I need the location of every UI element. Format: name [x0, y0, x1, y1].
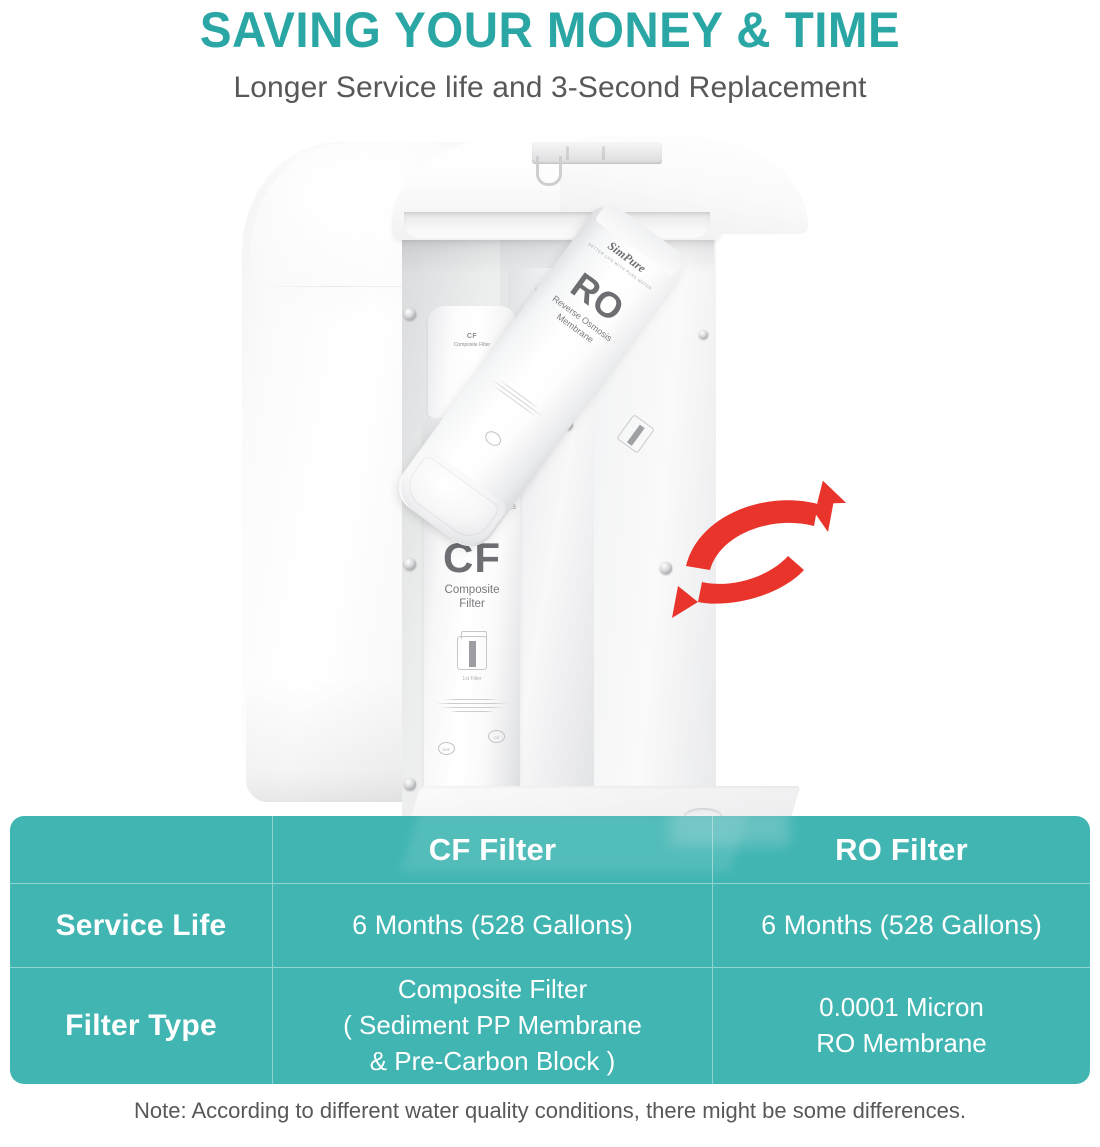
header-block: SAVING YOUR MONEY & TIME Longer Service …: [0, 0, 1100, 105]
page-subtitle: Longer Service life and 3-Second Replace…: [0, 71, 1100, 105]
filter-comparison-table: CF Filter RO Filter Service Life 6 Month…: [10, 816, 1090, 1084]
product-photo: CF Composite Filter 1st Filter NSF CE Si…: [0, 118, 1100, 818]
table-cell-ro-service-life: 6 Months (528 Gallons): [713, 884, 1090, 968]
water-waves-icon: [432, 696, 512, 722]
filter-cartridge-icon: [457, 636, 487, 670]
screw-icon: [404, 308, 416, 320]
cf-icon-caption: 1st Filter: [462, 676, 481, 682]
footnote: Note: According to different water quali…: [0, 1098, 1100, 1124]
page-title: SAVING YOUR MONEY & TIME: [28, 4, 1073, 57]
cert-badge-icon: CE: [488, 730, 505, 743]
cert-badge-icon: NSF: [438, 742, 455, 755]
table-cell-ro-filter-type: 0.0001 Micron RO Membrane: [713, 968, 1090, 1084]
hinge-clip: [536, 156, 562, 186]
photo-fade: [0, 758, 1100, 818]
ro-type-line1: 0.0001 Micron: [816, 990, 987, 1026]
table-row-label-service-life: Service Life: [10, 884, 273, 968]
table-cell-cf-filter-type: Composite Filter ( Sediment PP Membrane …: [273, 968, 713, 1084]
twist-rotate-arrow-icon: [668, 470, 868, 630]
cf-type-line1: Composite Filter: [343, 972, 642, 1008]
table-cell-cf-service-life: 6 Months (528 Gallons): [273, 884, 713, 968]
filter-cartridge-icon: [616, 414, 655, 454]
cf-type-line2: ( Sediment PP Membrane: [343, 1008, 642, 1044]
table-row-label-filter-type: Filter Type: [10, 968, 273, 1084]
cf-type-line3: & Pre-Carbon Block ): [343, 1044, 642, 1080]
ro-type-line2: RO Membrane: [816, 1026, 987, 1062]
table-header-blank: [10, 816, 273, 884]
cover-inner-lip: [404, 212, 710, 238]
table-header-cf-filter: CF Filter: [273, 816, 713, 884]
table-header-ro-filter: RO Filter: [713, 816, 1090, 884]
